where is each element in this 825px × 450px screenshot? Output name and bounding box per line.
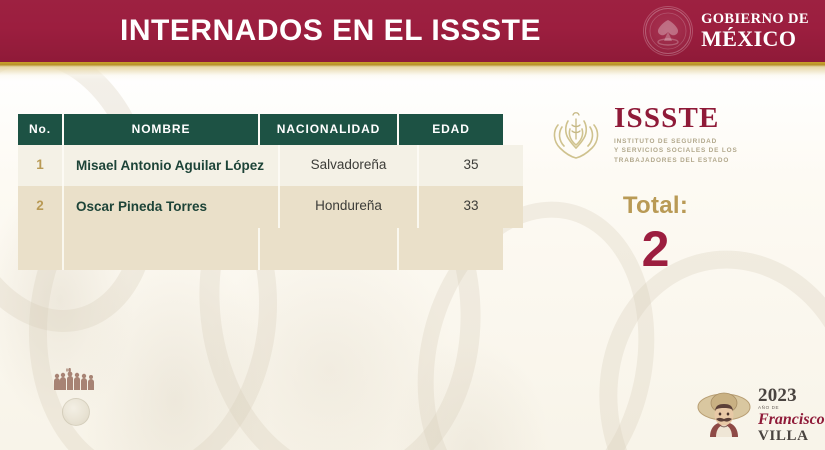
table-row: 1 Misael Antonio Aguilar López Salvadore…	[18, 145, 497, 186]
column-header-no: No.	[18, 114, 64, 145]
brand-line-2: MÉXICO	[701, 28, 809, 50]
gold-divider-fade	[0, 67, 825, 81]
column-header-nacionalidad: NACIONALIDAD	[260, 114, 399, 145]
table-body: 1 Misael Antonio Aguilar López Salvadore…	[18, 145, 497, 270]
page-title: INTERNADOS EN EL ISSSTE	[120, 14, 541, 48]
table-empty-row	[18, 228, 497, 270]
villa-last-name: VILLA	[758, 429, 825, 444]
internados-table: No. NOMBRE NACIONALIDAD EDAD 1 Misael An…	[18, 114, 497, 270]
cell-nombre: Oscar Pineda Torres	[64, 186, 280, 227]
column-header-edad: EDAD	[399, 114, 503, 145]
issste-logo: ISSSTE INSTITUTO DE SEGURIDAD Y SERVICIO…	[548, 104, 738, 165]
cell-nombre: Misael Antonio Aguilar López	[64, 145, 280, 186]
villa-year: 2023	[758, 386, 825, 405]
villa-first-name: Francisco	[758, 412, 825, 428]
gobierno-de-mexico-logo: GOBIERNO DE MÉXICO	[643, 6, 809, 56]
empty-cell	[260, 228, 399, 270]
total-value: 2	[548, 224, 763, 274]
issste-subtitle-line-3: TRABAJADORES DEL ESTADO	[614, 156, 738, 165]
empty-cell	[64, 228, 260, 270]
cell-edad: 33	[419, 186, 523, 227]
revolucion-figures-watermark-icon	[50, 368, 98, 390]
issste-name: ISSSTE	[614, 104, 738, 133]
mexican-eagle-seal-icon	[643, 6, 693, 56]
issste-cupped-hands-caduceus-icon	[548, 105, 604, 163]
cell-nacionalidad: Salvadoreña	[280, 145, 419, 186]
issste-subtitle-line-2: Y SERVICIOS SOCIALES DE LOS	[614, 146, 738, 155]
cell-no: 2	[18, 186, 64, 227]
villa-text: 2023 AÑO DE Francisco VILLA	[758, 386, 825, 444]
total-label: Total:	[548, 192, 763, 220]
coin-watermark-icon	[62, 398, 90, 426]
issste-subtitle-line-1: INSTITUTO DE SEGURIDAD	[614, 137, 738, 146]
issste-subtitle: INSTITUTO DE SEGURIDAD Y SERVICIOS SOCIA…	[614, 137, 738, 165]
issste-text: ISSSTE INSTITUTO DE SEGURIDAD Y SERVICIO…	[614, 104, 738, 165]
cell-edad: 35	[419, 145, 523, 186]
gobierno-text: GOBIERNO DE MÉXICO	[701, 12, 809, 50]
header-bar: INTERNADOS EN EL ISSSTE GOBIERNO DE MÉXI…	[0, 0, 825, 62]
brand-line-1: GOBIERNO DE	[701, 12, 809, 27]
francisco-villa-portrait-icon	[694, 385, 754, 445]
slide-screen: INTERNADOS EN EL ISSSTE GOBIERNO DE MÉXI…	[0, 0, 825, 450]
table-header-row: No. NOMBRE NACIONALIDAD EDAD	[18, 114, 497, 145]
total-block: Total: 2	[548, 192, 763, 274]
column-header-nombre: NOMBRE	[64, 114, 260, 145]
francisco-villa-badge: 2023 AÑO DE Francisco VILLA	[694, 384, 818, 446]
empty-cell	[399, 228, 503, 270]
cell-no: 1	[18, 145, 64, 186]
empty-cell	[18, 228, 64, 270]
cell-nacionalidad: Hondureña	[280, 186, 419, 227]
table-row: 2 Oscar Pineda Torres Hondureña 33	[18, 186, 497, 227]
